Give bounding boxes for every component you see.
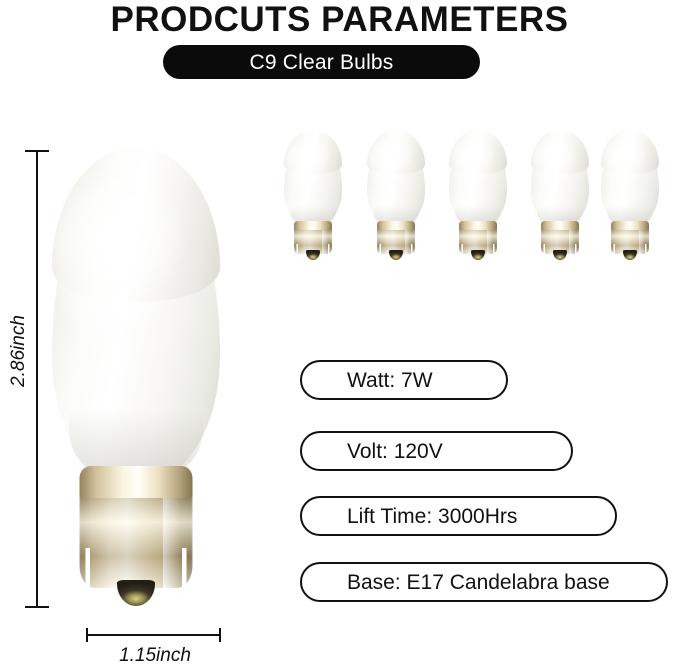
product-bulb-small (367, 131, 425, 261)
width-dimension-line (86, 634, 221, 636)
bulb-contact-tip (623, 250, 637, 260)
spec-label: Lift Time: 3000Hrs (347, 506, 517, 527)
product-bulb-small (601, 131, 659, 261)
bulb-contact-tip (117, 580, 155, 606)
height-dimension-cap-bottom (25, 606, 49, 608)
bulb-glass-envelope (367, 131, 425, 227)
spec-item-life-time: Lift Time: 3000Hrs (300, 496, 617, 536)
bulb-contact-tip (471, 250, 485, 260)
subtitle-badge-label: C9 Clear Bulbs (249, 52, 393, 73)
bulb-contact-tip (306, 250, 320, 260)
product-bulb-small (531, 131, 589, 261)
product-bulb-large (52, 148, 220, 608)
spec-label: Watt: 7W (347, 370, 433, 391)
height-dimension-label: 2.86inch (8, 301, 30, 401)
subtitle-badge: C9 Clear Bulbs (163, 45, 480, 79)
bulb-glass-envelope (601, 131, 659, 227)
bulb-glass-envelope (52, 148, 220, 483)
spec-label: Base: E17 Candelabra base (347, 572, 610, 593)
spec-item-watt: Watt: 7W (300, 360, 508, 400)
product-bulb-small (449, 131, 507, 261)
bulb-glass-envelope (449, 131, 507, 227)
bulb-glass-envelope (531, 131, 589, 227)
spec-item-volt: Volt: 120V (300, 431, 573, 471)
bulb-glass-envelope (284, 131, 342, 227)
product-bulb-small (284, 131, 342, 261)
spec-label: Volt: 120V (347, 441, 443, 462)
spec-item-base: Base: E17 Candelabra base (300, 562, 668, 602)
bulb-contact-tip (389, 250, 403, 260)
width-dimension-label: 1.15inch (60, 645, 250, 667)
height-dimension-line (36, 150, 38, 608)
bulb-screw-base (80, 466, 193, 588)
width-dimension-cap-right (219, 628, 221, 642)
page-title: PRODCUTS PARAMETERS (0, 0, 679, 40)
bulb-contact-tip (553, 250, 567, 260)
